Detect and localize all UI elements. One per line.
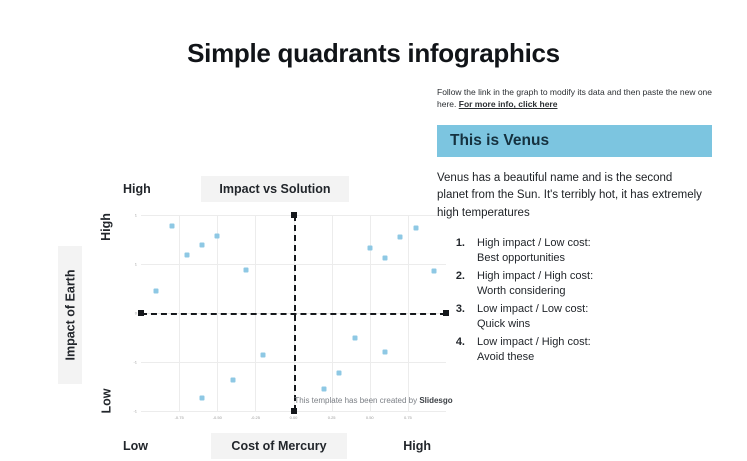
quadrant-line-endcap: [138, 310, 144, 316]
y-tick-label: 1: [121, 262, 137, 267]
scatter-point[interactable]: [261, 353, 266, 358]
chart-bottom-labels: Low Cost of Mercury High: [123, 433, 453, 461]
slide-canvas: Simple quadrants infographics Impact of …: [0, 0, 747, 420]
top-left-label: High: [123, 176, 151, 202]
scatter-point[interactable]: [383, 256, 388, 261]
page-title: Simple quadrants infographics: [0, 38, 747, 69]
y-axis-title: Impact of Earth: [58, 246, 82, 384]
scatter-point[interactable]: [367, 246, 372, 251]
scatter-point[interactable]: [154, 288, 159, 293]
y-tick-label: -1: [121, 360, 137, 365]
scatter-point[interactable]: [200, 243, 205, 248]
footer-brand[interactable]: Slidesgo: [419, 396, 452, 405]
list-item: 4.Low impact / High cost:Avoid these: [437, 335, 713, 364]
link-note: Follow the link in the graph to modify i…: [437, 86, 713, 111]
footer-text: This template has been created by: [294, 396, 419, 405]
list-item-number: 4.: [437, 335, 477, 364]
y-axis-high-label: High: [96, 204, 116, 250]
list-item-number: 2.: [437, 269, 477, 298]
scatter-point[interactable]: [322, 387, 327, 392]
quadrant-line-vertical: [294, 215, 296, 411]
list-item-number: 3.: [437, 302, 477, 331]
x-tick-label: -0.75: [175, 415, 184, 420]
scatter-point[interactable]: [431, 268, 436, 273]
list-item: 1.High impact / Low cost:Best opportunit…: [437, 236, 713, 265]
scatter-point[interactable]: [169, 223, 174, 228]
x-tick-label: 0.50: [366, 415, 374, 420]
quadrant-legend-list: 1.High impact / Low cost:Best opportunit…: [437, 236, 713, 364]
scatter-point[interactable]: [398, 235, 403, 240]
quadrant-chart: Impact of Earth High Low High Impact vs …: [28, 86, 428, 378]
scatter-point[interactable]: [215, 233, 220, 238]
quadrant-line-endcap: [291, 212, 297, 218]
scatter-point[interactable]: [230, 377, 235, 382]
list-item-text: Low impact / Low cost:Quick wins: [477, 302, 588, 331]
list-item: 3.Low impact / Low cost:Quick wins: [437, 302, 713, 331]
list-item-text: High impact / Low cost:Best opportunitie…: [477, 236, 591, 265]
bottom-left-label: Low: [123, 433, 148, 459]
y-tick-label: 0: [121, 311, 137, 316]
y-axis-title-label: Impact of Earth: [63, 270, 77, 361]
x-tick-label: 0.00: [290, 415, 298, 420]
quadrant-line-endcap: [291, 408, 297, 414]
scatter-point[interactable]: [383, 350, 388, 355]
y-tick-label: 1: [121, 213, 137, 218]
scatter-point[interactable]: [337, 370, 342, 375]
x-tick-label: 0.75: [404, 415, 412, 420]
list-item: 2.High impact / High cost:Worth consider…: [437, 269, 713, 298]
info-panel: Follow the link in the graph to modify i…: [437, 86, 720, 368]
list-item-number: 1.: [437, 236, 477, 265]
chart-title-chip: Impact vs Solution: [201, 176, 349, 202]
x-axis-title-chip: Cost of Mercury: [211, 433, 347, 459]
chart-top-labels: High Impact vs Solution: [123, 176, 453, 202]
bottom-right-label: High: [403, 433, 431, 459]
y-tick-label: -1: [121, 409, 137, 414]
more-info-link[interactable]: For more info, click here: [459, 99, 558, 109]
scatter-plot-area[interactable]: 110-1-1-0.75-0.50-0.250.000.250.500.75: [141, 215, 446, 411]
section-heading-bar: This is Venus: [437, 125, 712, 157]
list-item-text: Low impact / High cost:Avoid these: [477, 335, 591, 364]
x-tick-label: -0.50: [213, 415, 222, 420]
footer: This template has been created by Slides…: [0, 396, 747, 405]
section-body-text: Venus has a beautiful name and is the se…: [437, 170, 705, 222]
section-heading-label: This is Venus: [450, 132, 549, 150]
scatter-point[interactable]: [244, 267, 249, 272]
scatter-point[interactable]: [352, 335, 357, 340]
x-tick-label: 0.25: [328, 415, 336, 420]
scatter-point[interactable]: [184, 253, 189, 258]
list-item-text: High impact / High cost:Worth considerin…: [477, 269, 593, 298]
x-tick-label: -0.25: [251, 415, 260, 420]
scatter-point[interactable]: [413, 225, 418, 230]
